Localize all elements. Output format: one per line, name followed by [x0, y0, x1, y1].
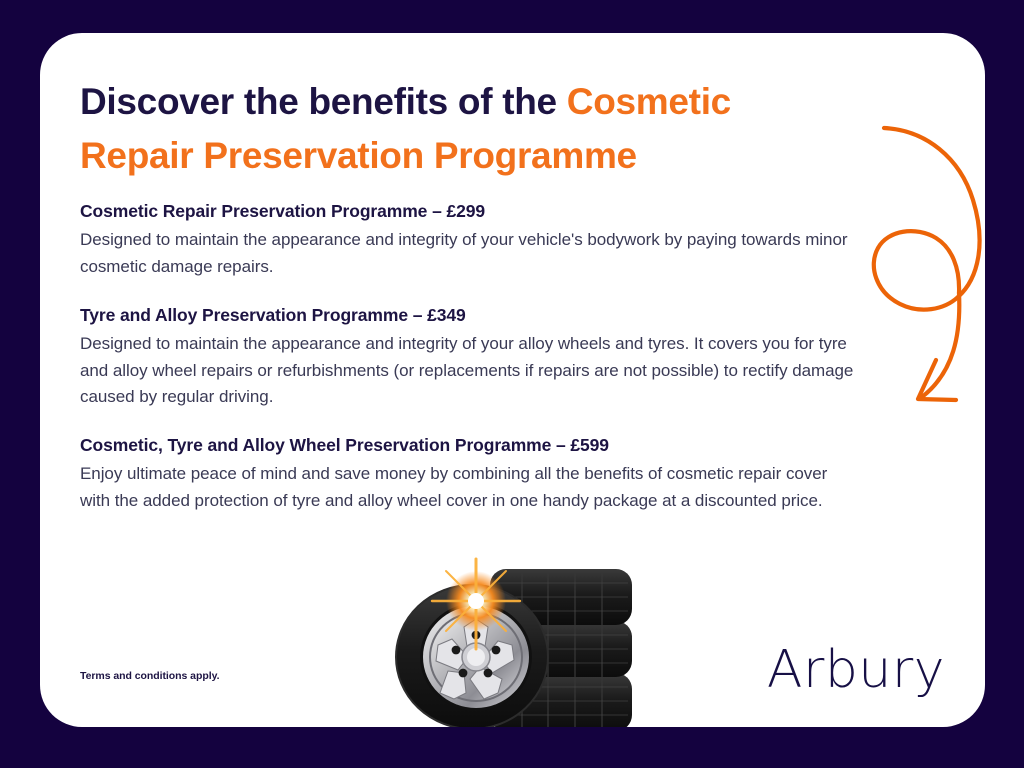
- page-title: Discover the benefits of the Cosmetic Re…: [80, 75, 870, 183]
- section-body: Enjoy ultimate peace of mind and save mo…: [80, 461, 852, 514]
- headline-accent-line1: Cosmetic: [567, 81, 731, 122]
- headline-lead: Discover the benefits of the: [80, 81, 567, 122]
- programme-section-combined: Cosmetic, Tyre and Alloy Wheel Preservat…: [80, 435, 852, 514]
- section-body: Designed to maintain the appearance and …: [80, 227, 852, 280]
- tyre-stack-image: [370, 553, 670, 727]
- programme-section-cosmetic-repair: Cosmetic Repair Preservation Programme –…: [80, 201, 852, 280]
- section-title: Tyre and Alloy Preservation Programme – …: [80, 305, 860, 326]
- terms-and-conditions-text: Terms and conditions apply.: [80, 670, 219, 682]
- programme-section-tyre-and-alloy: Tyre and Alloy Preservation Programme – …: [80, 305, 860, 411]
- section-title: Cosmetic Repair Preservation Programme –…: [80, 201, 852, 222]
- arbury-logo: Arbury: [767, 640, 945, 700]
- headline-accent-line2: Repair Preservation Programme: [80, 135, 637, 176]
- section-body: Designed to maintain the appearance and …: [80, 331, 860, 411]
- section-title: Cosmetic, Tyre and Alloy Wheel Preservat…: [80, 435, 852, 456]
- promo-poster: Discover the benefits of the Cosmetic Re…: [0, 0, 1024, 768]
- content-card: Discover the benefits of the Cosmetic Re…: [40, 33, 985, 727]
